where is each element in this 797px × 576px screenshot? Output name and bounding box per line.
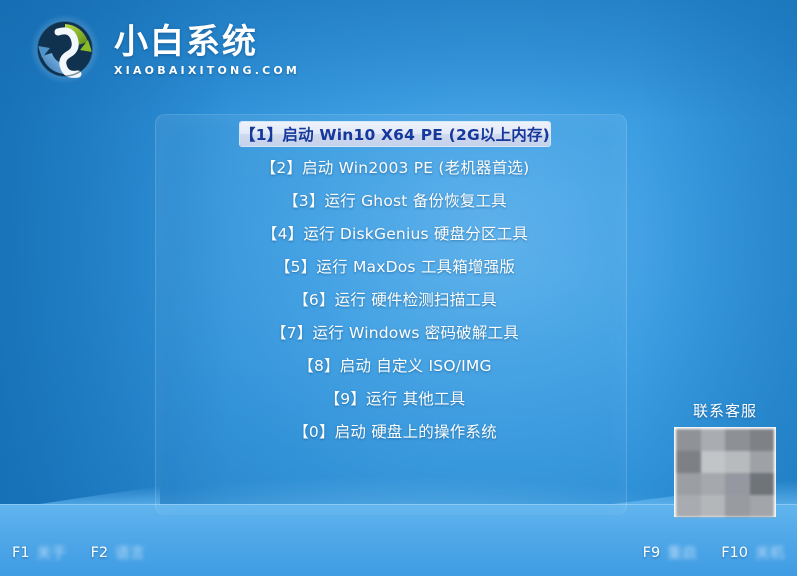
qr-cell — [701, 495, 726, 517]
function-keys-left: F1关于F2语言 — [12, 542, 145, 563]
qr-mosaic — [676, 429, 774, 517]
boot-menu-item-4[interactable]: 【4】运行 DiskGenius 硬盘分区工具 — [240, 221, 550, 245]
function-key-name-f9[interactable]: F9 — [643, 545, 661, 561]
boot-menu-item-8[interactable]: 【8】启动 自定义 ISO/IMG — [240, 353, 550, 377]
function-keys-right: F9重启F10关机 — [643, 542, 785, 563]
qr-cell — [750, 495, 775, 517]
qr-cell — [725, 495, 750, 517]
boot-menu-item-2[interactable]: 【2】启动 Win2003 PE (老机器首选) — [240, 155, 550, 179]
qr-cell — [725, 451, 750, 473]
qr-code-icon[interactable] — [674, 427, 776, 517]
boot-menu-item-7[interactable]: 【7】运行 Windows 密码破解工具 — [240, 320, 550, 344]
qr-cell — [750, 429, 775, 451]
brand-logo: 小白系统 XIAOBAIXITONG.COM — [28, 12, 300, 86]
brand-domain: XIAOBAIXITONG.COM — [114, 64, 300, 77]
function-key-desc-f9: 重启 — [667, 542, 697, 563]
qr-cell — [750, 473, 775, 495]
qr-cell — [701, 429, 726, 451]
qr-cell — [725, 473, 750, 495]
brand-text: 小白系统 XIAOBAIXITONG.COM — [114, 21, 300, 78]
boot-menu-list[interactable]: 【1】启动 Win10 X64 PE (2G以上内存)【2】启动 Win2003… — [240, 122, 550, 452]
function-key-desc-f2: 语言 — [115, 542, 145, 563]
qr-cell — [725, 429, 750, 451]
boot-menu-item-3[interactable]: 【3】运行 Ghost 备份恢复工具 — [240, 188, 550, 212]
qr-cell — [676, 429, 701, 451]
function-key-name-f2[interactable]: F2 — [91, 545, 109, 561]
boot-menu-item-6[interactable]: 【6】运行 硬件检测扫描工具 — [240, 287, 550, 311]
function-key-name-f10[interactable]: F10 — [721, 545, 748, 561]
function-key-name-f1[interactable]: F1 — [12, 545, 30, 561]
function-key-desc-f1: 关于 — [37, 542, 67, 563]
brand-title: 小白系统 — [114, 25, 300, 61]
contact-support-title: 联系客服 — [666, 400, 784, 421]
boot-menu-item-1[interactable]: 【1】启动 Win10 X64 PE (2G以上内存) — [240, 122, 550, 146]
boot-menu-screen: 小白系统 XIAOBAIXITONG.COM 【1】启动 Win10 X64 P… — [0, 0, 797, 576]
qr-cell — [676, 495, 701, 517]
qr-cell — [750, 451, 775, 473]
contact-support-block: 联系客服 — [666, 400, 784, 517]
boot-menu-item-0[interactable]: 【0】启动 硬盘上的操作系统 — [240, 419, 550, 443]
recycle-circle-logo-icon — [28, 12, 102, 86]
boot-menu-item-5[interactable]: 【5】运行 MaxDos 工具箱增强版 — [240, 254, 550, 278]
function-key-desc-f10: 关机 — [755, 542, 785, 563]
qr-cell — [701, 451, 726, 473]
qr-cell — [701, 473, 726, 495]
qr-cell — [676, 451, 701, 473]
qr-cell — [676, 473, 701, 495]
boot-menu-item-9[interactable]: 【9】运行 其他工具 — [240, 386, 550, 410]
function-key-bar: F1关于F2语言 F9重启F10关机 — [0, 542, 797, 564]
